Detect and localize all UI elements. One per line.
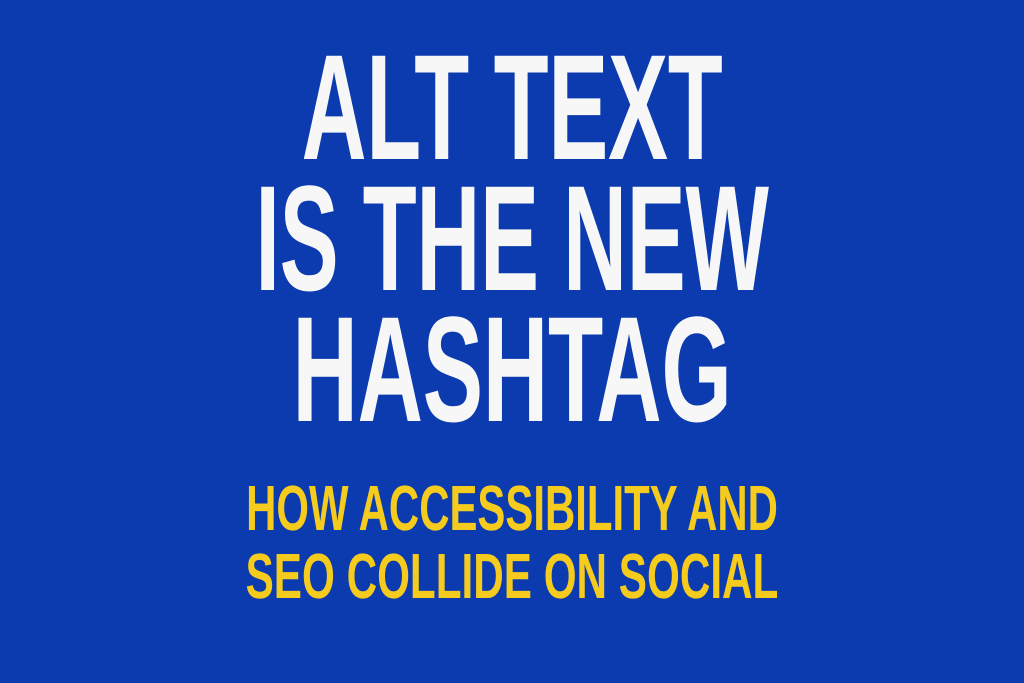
headline-block: ALT TEXT IS THE NEW HASHTAG — [0, 42, 1024, 435]
subtitle-line-1: HOW ACCESSIBILITY AND — [177, 474, 848, 542]
poster-canvas: ALT TEXT IS THE NEW HASHTAG HOW ACCESSIB… — [0, 0, 1024, 683]
headline-line-3: HASHTAG — [203, 304, 821, 435]
subtitle-line-2: SEO COLLIDE ON SOCIAL — [174, 542, 850, 610]
subtitle-block: HOW ACCESSIBILITY AND SEO COLLIDE ON SOC… — [0, 474, 1024, 610]
